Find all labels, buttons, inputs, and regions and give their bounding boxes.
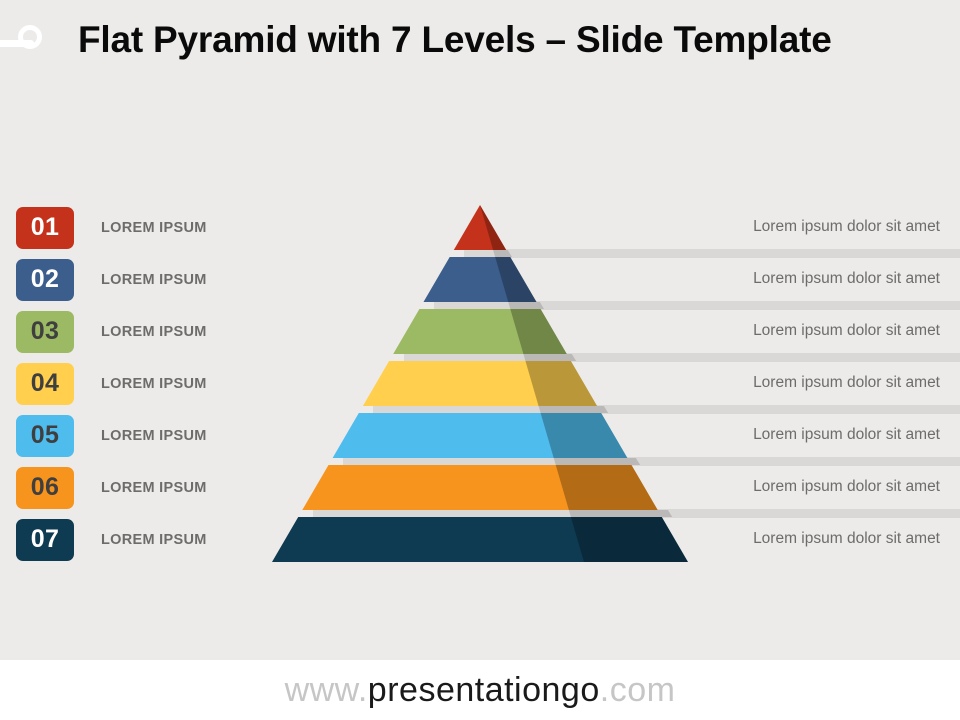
pyramid-band-shadow xyxy=(556,465,660,510)
url-prefix: www. xyxy=(285,671,368,709)
level-description-02: Lorem ipsum dolor sit amet xyxy=(753,270,940,288)
row-separator-bar xyxy=(313,509,960,518)
legend-label: LOREM IPSUM xyxy=(101,376,207,392)
pyramid-band-shadow xyxy=(571,517,690,562)
url-suffix: .com xyxy=(600,671,676,709)
level-number-badge[interactable]: 01 xyxy=(16,207,74,249)
level-description-04: Lorem ipsum dolor sit amet xyxy=(753,374,940,392)
legend-row-05[interactable]: 05LOREM IPSUM xyxy=(16,415,207,457)
slide-canvas: Flat Pyramid with 7 Levels – Slide Templ… xyxy=(0,0,960,660)
row-separator-bar xyxy=(343,457,960,466)
pyramid-band-shadow xyxy=(510,309,569,354)
legend-row-04[interactable]: 04LOREM IPSUM xyxy=(16,363,207,405)
pyramid-band xyxy=(363,361,597,406)
pyramid-band-shadow xyxy=(480,205,508,250)
row-separator-bar xyxy=(464,249,960,258)
legend-label: LOREM IPSUM xyxy=(101,480,207,496)
pyramid-band-shadow xyxy=(495,257,538,302)
level-number-badge[interactable]: 02 xyxy=(16,259,74,301)
level-description-06: Lorem ipsum dolor sit amet xyxy=(753,478,940,496)
level-description-05: Lorem ipsum dolor sit amet xyxy=(753,426,940,444)
pyramid-band-shadow xyxy=(541,413,630,458)
pyramid-band-shadow xyxy=(525,361,599,406)
level-description-03: Lorem ipsum dolor sit amet xyxy=(753,322,940,340)
level-number-badge[interactable]: 06 xyxy=(16,467,74,509)
legend-row-07[interactable]: 07LOREM IPSUM xyxy=(16,519,207,561)
legend-label: LOREM IPSUM xyxy=(101,428,207,444)
pyramid-band xyxy=(423,257,536,302)
level-number-badge[interactable]: 07 xyxy=(16,519,74,561)
legend-row-03[interactable]: 03LOREM IPSUM xyxy=(16,311,207,353)
pyramid-level-05[interactable] xyxy=(333,413,630,458)
pin-ring-icon xyxy=(18,25,42,49)
website-url: www.presentationgo.com xyxy=(285,671,676,710)
pyramid-band xyxy=(333,413,628,458)
legend-label: LOREM IPSUM xyxy=(101,220,207,236)
legend-row-06[interactable]: 06LOREM IPSUM xyxy=(16,467,207,509)
legend-label: LOREM IPSUM xyxy=(101,324,207,340)
pyramid-band xyxy=(302,465,657,510)
footer-bar: www.presentationgo.com xyxy=(0,660,960,720)
legend-label: LOREM IPSUM xyxy=(101,532,207,548)
row-separator-bar xyxy=(404,353,960,362)
legend-row-02[interactable]: 02LOREM IPSUM xyxy=(16,259,207,301)
pyramid-band xyxy=(454,205,506,250)
legend-label: LOREM IPSUM xyxy=(101,272,207,288)
level-number-badge[interactable]: 05 xyxy=(16,415,74,457)
level-number-badge[interactable]: 03 xyxy=(16,311,74,353)
row-separator-bar xyxy=(434,301,960,310)
pyramid-level-02[interactable] xyxy=(423,257,538,302)
pyramid-band xyxy=(272,517,688,562)
pyramid-level-07[interactable] xyxy=(272,517,690,562)
level-number-badge[interactable]: 04 xyxy=(16,363,74,405)
row-separator-bar xyxy=(373,405,960,414)
pyramid-level-03[interactable] xyxy=(393,309,569,354)
page-title: Flat Pyramid with 7 Levels – Slide Templ… xyxy=(78,18,888,61)
level-description-07: Lorem ipsum dolor sit amet xyxy=(753,530,940,548)
pyramid-level-01[interactable] xyxy=(454,205,508,250)
url-brand: presentationgo xyxy=(368,671,600,709)
pyramid-level-04[interactable] xyxy=(363,361,599,406)
pyramid-band xyxy=(393,309,567,354)
legend-row-01[interactable]: 01LOREM IPSUM xyxy=(16,207,207,249)
level-description-01: Lorem ipsum dolor sit amet xyxy=(753,218,940,236)
pyramid-level-06[interactable] xyxy=(302,465,659,510)
